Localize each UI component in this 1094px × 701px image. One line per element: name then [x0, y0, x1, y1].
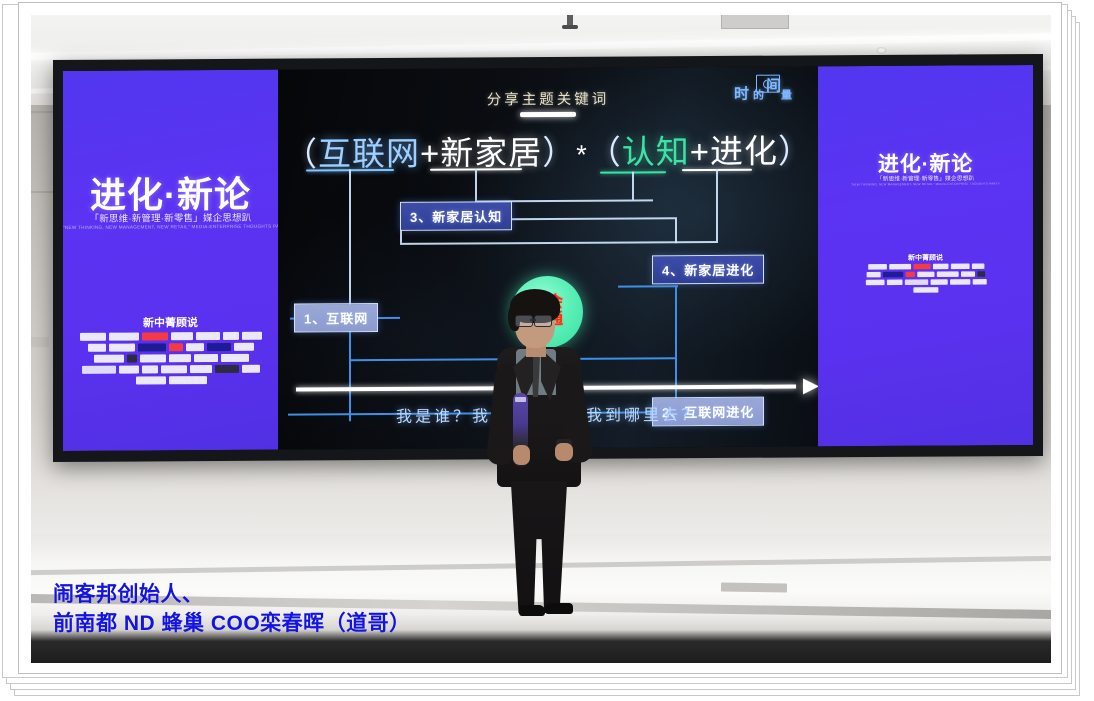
- sponsor-logo-chip: [136, 376, 166, 384]
- sponsor-logo-chip: [194, 354, 218, 362]
- sponsor-logo-chip: [127, 355, 137, 363]
- sponsor-logo-chip: [186, 343, 204, 351]
- floor-plate: [721, 582, 787, 592]
- heading-underline: [520, 112, 576, 117]
- formula-term-cognition: 认知: [622, 133, 690, 170]
- sponsor-logo-chip: [933, 264, 949, 270]
- sponsor-logo-chip: [977, 271, 985, 277]
- formula-term-internet: 互联网: [318, 135, 420, 173]
- sponsor-logo-chip: [904, 279, 927, 285]
- ceiling-mount-icon: [567, 15, 573, 27]
- conference-photo: 进化·新论 「新思维·新管理·新零售」媒企思想趴 "NEW THINKING, …: [31, 15, 1051, 663]
- sponsor-logo-chip: [887, 280, 903, 286]
- sponsor-logo-chip: [169, 354, 191, 362]
- sponsor-logo-chip: [913, 287, 938, 293]
- sponsor-logo-chip: [171, 332, 193, 340]
- connector-node3-right: [500, 217, 675, 220]
- node-4-new-home-evolution[interactable]: 4、新家居进化: [652, 255, 764, 285]
- sponsor-logo-chip: [865, 280, 884, 286]
- watermark-char-liang: 量: [781, 91, 791, 102]
- connector-new-home-down: [475, 168, 477, 200]
- sponsor-logo-chip: [161, 365, 187, 373]
- sponsor-logo-chip: [196, 332, 220, 340]
- sponsor-logo-chip: [242, 365, 260, 373]
- left-banner-subtitle-en: "NEW THINKING, NEW MANAGEMENT, NEW RETAI…: [63, 224, 278, 230]
- ceiling-projector-housing: [721, 15, 789, 29]
- sponsor-logo-chip: [950, 279, 970, 285]
- photo-caption: 闹客邦创始人、 前南都 ND 蜂巢 COO栾春晖（道哥）: [53, 581, 411, 639]
- left-banner-subtitle: 「新思维·新管理·新零售」媒企思想趴: [63, 210, 278, 225]
- formula-paren-close-2: ）: [778, 132, 812, 169]
- wall-seam: [31, 337, 49, 347]
- sponsor-logo-chip: [883, 272, 903, 278]
- speaker-trousers: [507, 481, 571, 613]
- formula-paren-open-1: （: [284, 135, 318, 172]
- caption-line-2: 前南都 ND 蜂巢 COO栾春晖（道哥）: [53, 610, 411, 639]
- microphone-label: [515, 397, 526, 402]
- sponsor-logo-chip: [207, 343, 231, 351]
- formula-term-evolution: 进化: [710, 133, 778, 170]
- speaker-shoe-right: [545, 603, 573, 614]
- formula-term-new-home: 新家居: [440, 134, 542, 172]
- speaker-shoe-left: [519, 605, 545, 616]
- sponsor-logo-chip: [867, 272, 881, 278]
- formula-plus-2: +: [690, 133, 710, 170]
- glasses-icon: [515, 315, 533, 327]
- formula-paren-open-2: （: [588, 134, 622, 171]
- formula-plus-1: +: [420, 135, 440, 172]
- formula-operator-multiply: *: [576, 140, 588, 170]
- sponsor-logo-chip: [223, 332, 239, 340]
- right-event-banner: 进化·新论 「新思维·新管理·新零售」媒企思想趴 "NEW THINKING, …: [818, 65, 1033, 446]
- sponsor-logo-chip: [221, 354, 249, 362]
- sponsor-logo-chip: [917, 272, 934, 278]
- right-sponsor-title: 新中菁顾说: [842, 252, 1010, 263]
- sponsor-logo-chip: [950, 264, 969, 270]
- photo-frame: 进化·新论 「新思维·新管理·新零售」媒企思想趴 "NEW THINKING, …: [18, 2, 1062, 674]
- formula-paren-close-1: ）: [542, 134, 576, 171]
- sponsor-logo-chip: [215, 365, 239, 373]
- sponsor-logo-chip: [140, 354, 166, 362]
- sponsor-logo-chip: [119, 365, 139, 373]
- timeline-arrow-head-icon: [803, 378, 818, 394]
- sponsor-logo-chip: [138, 343, 166, 351]
- node-3-new-home-cognition[interactable]: 3、新家居认知: [400, 201, 512, 231]
- glasses-icon: [534, 315, 552, 327]
- sponsor-logo-chip: [88, 344, 106, 352]
- sponsor-logo-chip: [169, 376, 207, 384]
- sponsor-logo-chip: [913, 264, 930, 270]
- speaker-person: [483, 285, 603, 620]
- connector-internet-down: [349, 169, 351, 315]
- sponsor-logo-chip: [930, 279, 947, 285]
- sponsor-logo-chip: [937, 271, 959, 277]
- speaker-hand-right: [555, 443, 573, 461]
- connector-node3-feed: [400, 241, 718, 245]
- connector-node4-left: [618, 285, 678, 287]
- connector-evolution-down: [716, 169, 718, 241]
- right-banner-subtitle-en: "NEW THINKING, NEW MANAGEMENT, NEW RETAI…: [842, 182, 1010, 186]
- sponsor-logo-chip: [906, 272, 915, 278]
- connector-node4-to-hub: [675, 285, 677, 357]
- sponsor-logo-chip: [234, 343, 254, 351]
- sponsor-logo-chip: [94, 355, 124, 363]
- connector-cognition-down: [632, 171, 634, 199]
- sponsor-logo-chip: [868, 264, 887, 270]
- sponsor-logo-chip: [190, 365, 212, 373]
- wall-seam: [31, 191, 53, 193]
- sponsor-logo-chip: [109, 332, 139, 340]
- downlight-icon: [876, 47, 887, 54]
- node-1-internet[interactable]: 1、互联网: [294, 303, 378, 333]
- caption-line-1: 闹客邦创始人、: [53, 581, 411, 610]
- sponsor-logo-chip: [142, 365, 158, 373]
- sponsor-logo-chip: [109, 344, 135, 352]
- sponsor-logo-chip: [972, 279, 986, 285]
- sponsor-logo-chip: [972, 263, 984, 269]
- time-power-watermark-logo: 时 的 间 量: [734, 74, 800, 110]
- sponsor-logo-chip: [242, 332, 262, 340]
- sponsor-logo-chip: [961, 271, 975, 277]
- glasses-bridge-icon: [530, 319, 536, 321]
- watermark-frame-icon: [756, 75, 780, 93]
- sponsor-logo-chip: [80, 333, 106, 341]
- sponsor-logo-chip: [169, 343, 183, 351]
- speaker-hand-left: [513, 445, 530, 465]
- left-sponsor-title: 新中菁顾说: [63, 314, 278, 331]
- sponsor-logo-chip: [142, 332, 168, 340]
- sponsor-logo-chip: [889, 264, 911, 270]
- connector-node4-stem: [675, 217, 677, 243]
- watermark-char-shi: 时: [734, 87, 748, 102]
- left-event-banner: 进化·新论 「新思维·新管理·新零售」媒企思想趴 "NEW THINKING, …: [63, 70, 278, 451]
- sponsor-logo-chip: [82, 366, 116, 374]
- right-sponsor-logo-wall: [860, 263, 991, 293]
- left-sponsor-logo-wall: [77, 332, 265, 385]
